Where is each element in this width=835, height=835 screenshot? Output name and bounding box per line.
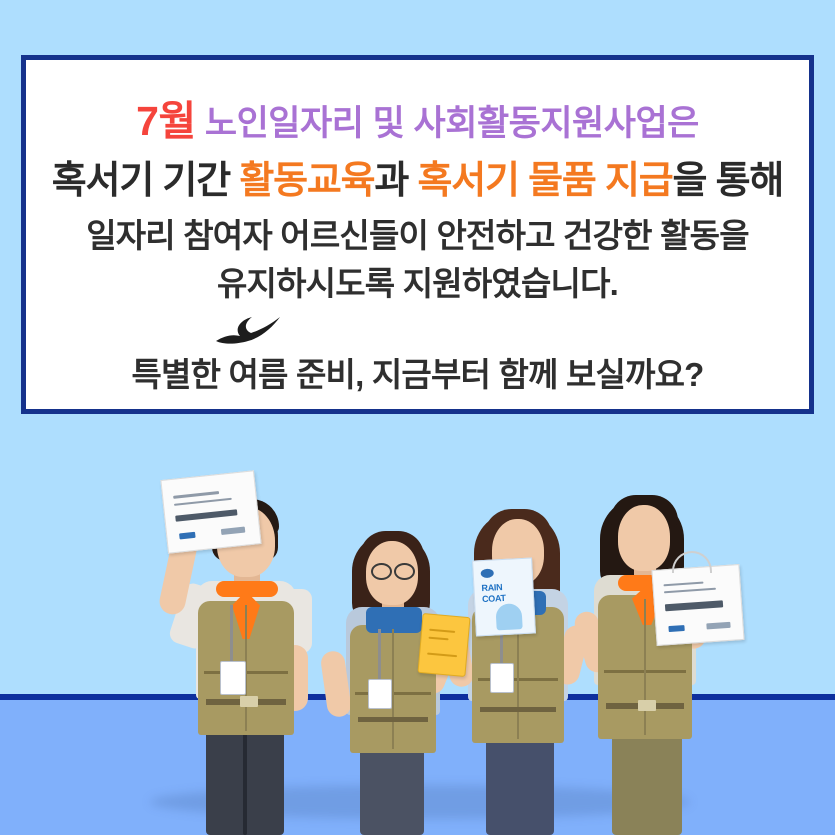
person-2-glasses-right bbox=[394, 563, 415, 580]
person-2-id-badge bbox=[368, 679, 392, 709]
person-4-legs bbox=[612, 723, 682, 835]
person-2-lanyard bbox=[378, 629, 381, 681]
headline-program-name: 노인일자리 및 사회활동지원사업은 bbox=[196, 104, 699, 143]
raincoat-label-line2: COAT bbox=[482, 593, 506, 604]
person-4 bbox=[562, 455, 732, 835]
person-2-belt bbox=[358, 717, 428, 722]
headline-l2-seg5: 을 통해 bbox=[673, 160, 784, 202]
body-line-4: 유지하시도록 지원하였습니다. bbox=[40, 261, 795, 307]
closing-question: 특별한 여름 준비, 지금부터 함께 보실까요? bbox=[40, 353, 795, 397]
item-raincoat-pack: RAIN COAT bbox=[472, 557, 536, 636]
person-2-vest-split bbox=[392, 629, 394, 749]
person-2-glasses-left bbox=[371, 563, 392, 580]
person-1-lanyard bbox=[230, 605, 233, 663]
person-2-scarf bbox=[366, 607, 422, 633]
headline-line-1: 7월 노인일자리 및 사회활동지원사업은 bbox=[40, 98, 795, 147]
item-white-package bbox=[160, 470, 261, 553]
headline-month: 7월 bbox=[136, 98, 196, 144]
headline-l2-seg3: 과 bbox=[374, 160, 417, 202]
person-1-buckle bbox=[240, 696, 258, 707]
headline-line-2: 혹서기 기간 활동교육과 혹서기 물품 지급을 통해 bbox=[40, 153, 795, 209]
headline-l2-seg1: 혹서기 기간 bbox=[52, 160, 240, 202]
person-1-id-badge bbox=[220, 661, 246, 695]
seagull-icon bbox=[214, 314, 286, 348]
headline-l2-highlight-education: 활동교육 bbox=[239, 160, 374, 202]
person-1 bbox=[150, 455, 340, 835]
body-line-3: 일자리 참여자 어르신들이 안전하고 건강한 활동을 bbox=[40, 213, 795, 259]
person-3-id-badge bbox=[490, 663, 514, 693]
message-panel-inner: 7월 노인일자리 및 사회활동지원사업은 혹서기 기간 활동교육과 혹서기 물품… bbox=[26, 60, 809, 409]
item-shopping-bag bbox=[651, 564, 744, 646]
person-4-head bbox=[618, 505, 670, 571]
person-4-buckle bbox=[638, 700, 656, 711]
person-3-belt bbox=[480, 707, 556, 712]
promo-card: RAIN COAT bbox=[0, 0, 835, 835]
message-panel: 7월 노인일자리 및 사회활동지원사업은 혹서기 기간 활동교육과 혹서기 물품… bbox=[21, 55, 814, 414]
item-yellow-pack bbox=[417, 613, 470, 677]
raincoat-label-line1: RAIN bbox=[481, 582, 502, 593]
headline-l2-highlight-supplies: 혹서기 물품 지급 bbox=[418, 160, 673, 202]
person-4-vest-split bbox=[644, 599, 646, 735]
volunteer-group-photo: RAIN COAT bbox=[120, 455, 720, 835]
